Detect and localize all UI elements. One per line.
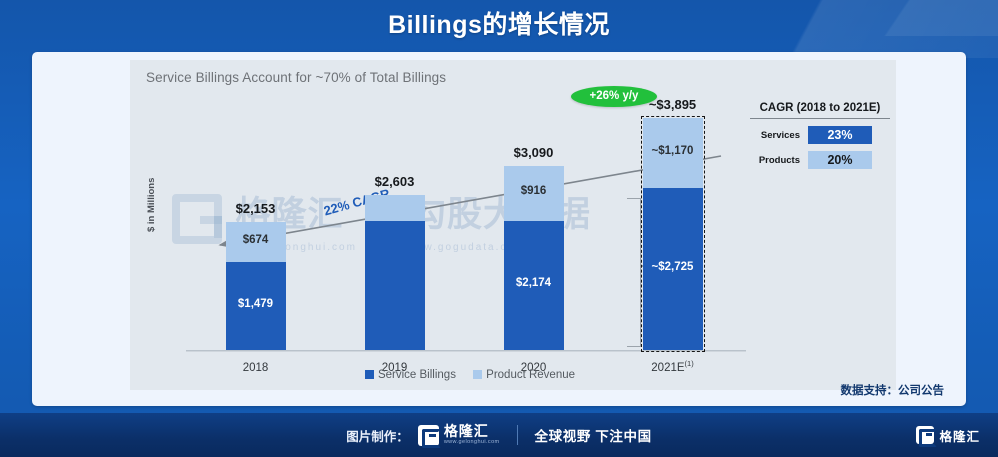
cagr-row-name-services: Services — [750, 130, 808, 141]
cagr-row-value-products: 20% — [808, 151, 872, 169]
cagr-row-value-services: 23% — [808, 126, 872, 144]
chart-panel: Service Billings Account for ~70% of Tot… — [130, 60, 896, 390]
legend-item-product-revenue: Product Revenue — [473, 369, 575, 381]
gelonghui-logo-icon — [418, 425, 439, 446]
legend-swatch-service-billings — [365, 370, 374, 379]
footer-slogan: 全球视野 下注中国 — [535, 425, 652, 445]
table-row: Products 20% — [750, 151, 890, 169]
bar-label-service-2020: $2,174 — [504, 277, 564, 289]
footer-brand-name: 格隆汇 — [444, 424, 500, 438]
footer-brand: 格隆汇 www.gelonghui.com — [418, 424, 500, 446]
bar-label-service-2018: $1,479 — [226, 298, 286, 310]
chart-legend: Service Billings Product Revenue — [130, 369, 810, 381]
bar-total-label-2019: $2,603 — [351, 174, 439, 189]
bar-total-label-2021e: ~$3,895 — [629, 97, 717, 112]
bar-segment-service-2018: $1,479 — [226, 262, 286, 350]
bar-segment-service-2020: $2,174 — [504, 221, 564, 350]
footer-brand-name-right: 格隆汇 — [939, 426, 980, 445]
bar-total-label-2018: $2,153 — [212, 201, 300, 216]
footer-brand-text: 格隆汇 www.gelonghui.com — [444, 424, 500, 446]
footer-made-by-label: 图片制作： — [346, 426, 409, 445]
gelonghui-logo-icon-right — [916, 426, 934, 444]
legend-label-product-revenue: Product Revenue — [486, 369, 575, 381]
bar-total-label-2020: $3,090 — [490, 145, 578, 160]
cagr-table: CAGR (2018 to 2021E) Services 23% Produc… — [750, 102, 890, 169]
bar-segment-service-2021e: ~$2,725 — [643, 188, 703, 350]
content-card: Service Billings Account for ~70% of Tot… — [32, 52, 966, 406]
page-title: Billings的增长情况 — [0, 5, 998, 45]
y-axis-label: $ in Millions — [146, 178, 157, 232]
legend-item-service-billings: Service Billings — [365, 369, 456, 381]
legend-label-service-billings: Service Billings — [378, 369, 456, 381]
table-row: Services 23% — [750, 126, 890, 144]
cagr-row-name-products: Products — [750, 155, 808, 166]
bar-segment-product-2020: $916 — [504, 166, 564, 221]
plot-area: $1,479$674$2,1532018$2,6032019$2,174$916… — [186, 100, 742, 350]
footer-bar: 图片制作： 格隆汇 www.gelonghui.com 全球视野 下注中国 格隆… — [0, 413, 998, 457]
footer-brand-url: www.gelonghui.com — [444, 440, 500, 446]
bar-segment-product-2019 — [365, 195, 425, 221]
chart-title: Service Billings Account for ~70% of Tot… — [146, 70, 446, 85]
footer-brand-right: 格隆汇 — [916, 426, 980, 445]
source-note: 数据支持：公司公告 — [841, 382, 945, 398]
bar-label-product-2018: $674 — [226, 234, 286, 246]
slide-background: Billings的增长情况 Service Billings Account f… — [0, 0, 998, 457]
bar-segment-product-2021e: ~$1,170 — [643, 118, 703, 188]
bar-label-service-2021e: ~$2,725 — [643, 261, 703, 273]
bar-segment-product-2018: $674 — [226, 222, 286, 262]
bar-label-product-2021e: ~$1,170 — [643, 145, 703, 157]
x-axis-line-shadow — [186, 351, 746, 352]
bar-label-product-2020: $916 — [504, 185, 564, 197]
footer-divider — [517, 425, 518, 445]
footer-center-group: 图片制作： 格隆汇 www.gelonghui.com 全球视野 下注中国 — [346, 424, 651, 446]
cagr-table-header: CAGR (2018 to 2021E) — [750, 102, 890, 119]
legend-swatch-product-revenue — [473, 370, 482, 379]
bar-segment-service-2019 — [365, 221, 425, 350]
